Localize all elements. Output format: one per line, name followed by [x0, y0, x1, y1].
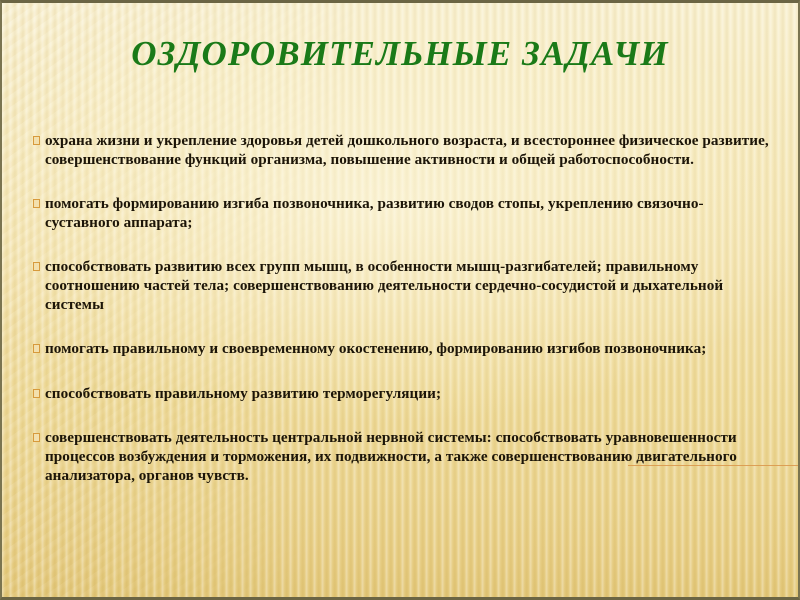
list-item: совершенствовать деятельность центрально… — [32, 429, 770, 485]
square-bullet-icon — [33, 389, 40, 398]
list-item: помогать правильному и своевременному ок… — [32, 340, 770, 359]
list-item: способствовать правильному развитию терм… — [32, 385, 770, 404]
list-item-text: помогать правильному и своевременному ок… — [45, 340, 770, 359]
list-item: помогать формированию изгиба позвоночник… — [32, 195, 770, 232]
list-item-text: охрана жизни и укрепление здоровья детей… — [45, 132, 770, 169]
list-item-text: способствовать правильному развитию терм… — [45, 385, 770, 404]
presentation-slide: ОЗДОРОВИТЕЛЬНЫЕ ЗАДАЧИ охрана жизни и ук… — [0, 0, 800, 600]
slide-title: ОЗДОРОВИТЕЛЬНЫЕ ЗАДАЧИ — [2, 35, 798, 74]
list-item-text: способствовать развитию всех групп мышц,… — [45, 258, 770, 314]
list-item-text: помогать формированию изгиба позвоночник… — [45, 195, 770, 232]
square-bullet-icon — [33, 433, 40, 442]
square-bullet-icon — [33, 136, 40, 145]
list-item-text: совершенствовать деятельность центрально… — [45, 429, 770, 485]
slide-content: ОЗДОРОВИТЕЛЬНЫЕ ЗАДАЧИ охрана жизни и ук… — [2, 3, 798, 597]
square-bullet-icon — [33, 199, 40, 208]
list-item: охрана жизни и укрепление здоровья детей… — [32, 132, 770, 169]
square-bullet-icon — [33, 344, 40, 353]
square-bullet-icon — [33, 262, 40, 271]
bullet-list: охрана жизни и укрепление здоровья детей… — [32, 132, 770, 485]
list-item: способствовать развитию всех групп мышц,… — [32, 258, 770, 314]
horizontal-rule — [628, 465, 800, 466]
